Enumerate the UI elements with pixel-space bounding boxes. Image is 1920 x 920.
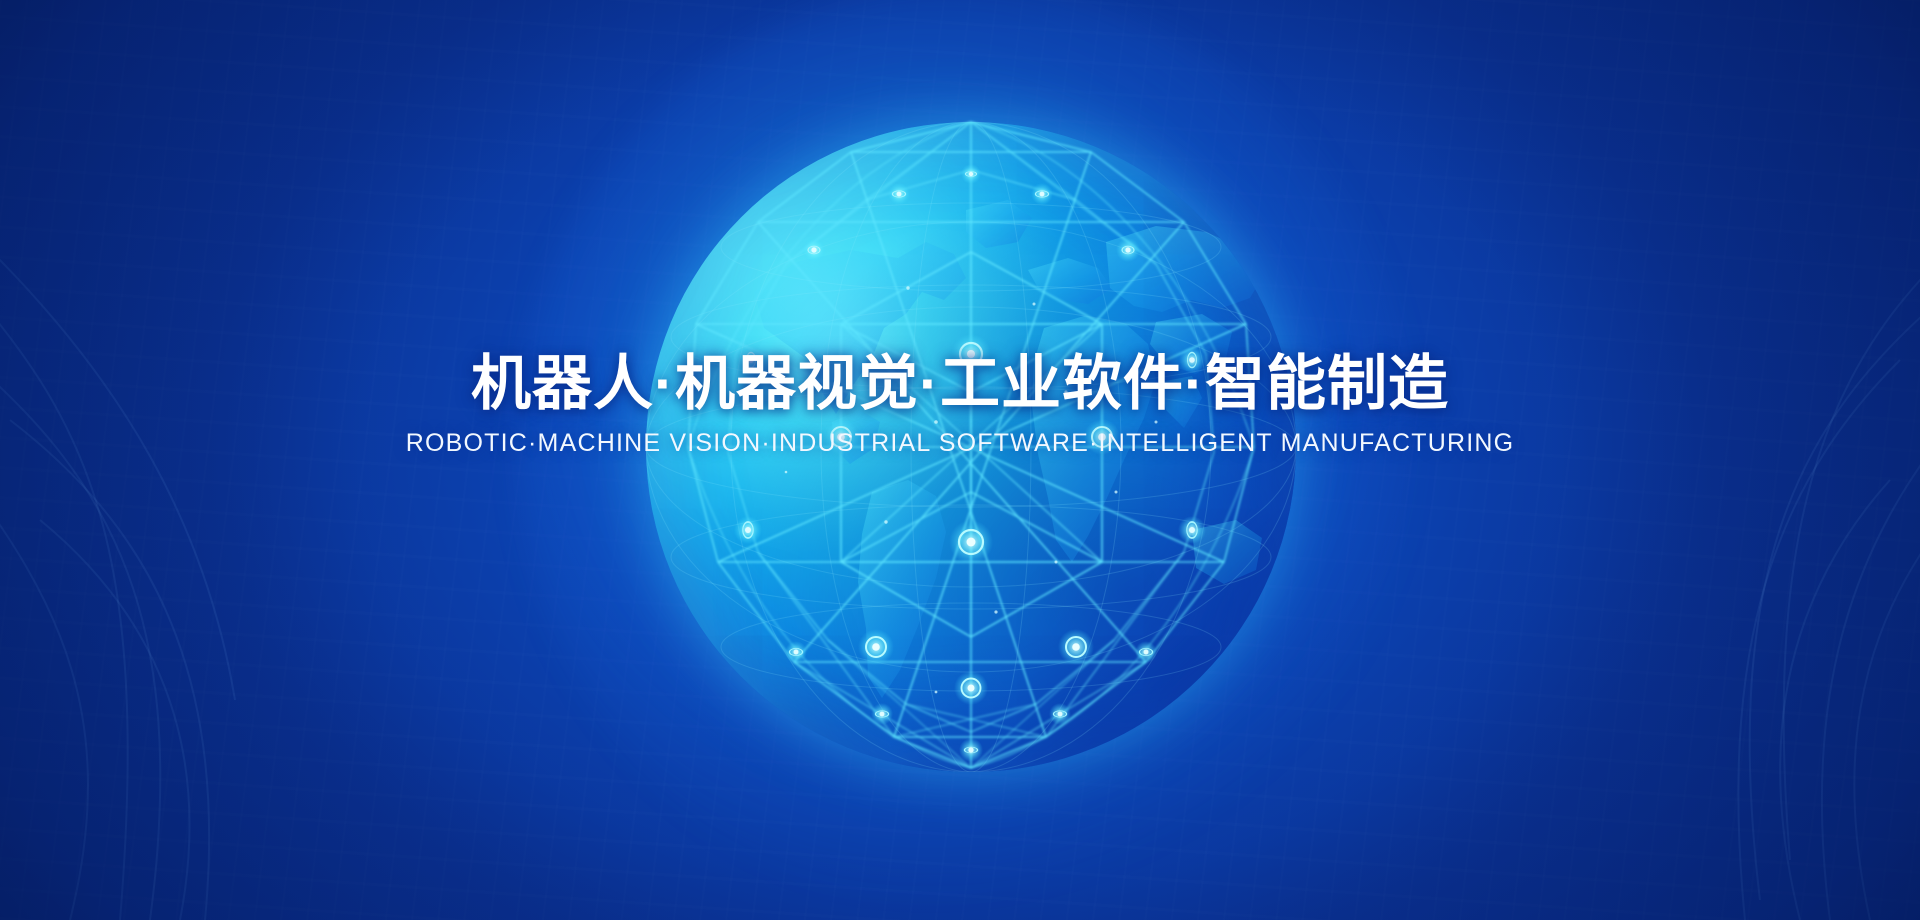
banner-hero: 机器人·机器视觉·工业软件·智能制造 ROBOTIC·MACHINE VISIO… xyxy=(0,0,1920,920)
page-subtitle: ROBOTIC·MACHINE VISION·INDUSTRIAL SOFTWA… xyxy=(0,429,1920,458)
hero-text-block: 机器人·机器视觉·工业软件·智能制造 ROBOTIC·MACHINE VISIO… xyxy=(0,352,1920,458)
page-title: 机器人·机器视觉·工业软件·智能制造 xyxy=(0,352,1920,415)
